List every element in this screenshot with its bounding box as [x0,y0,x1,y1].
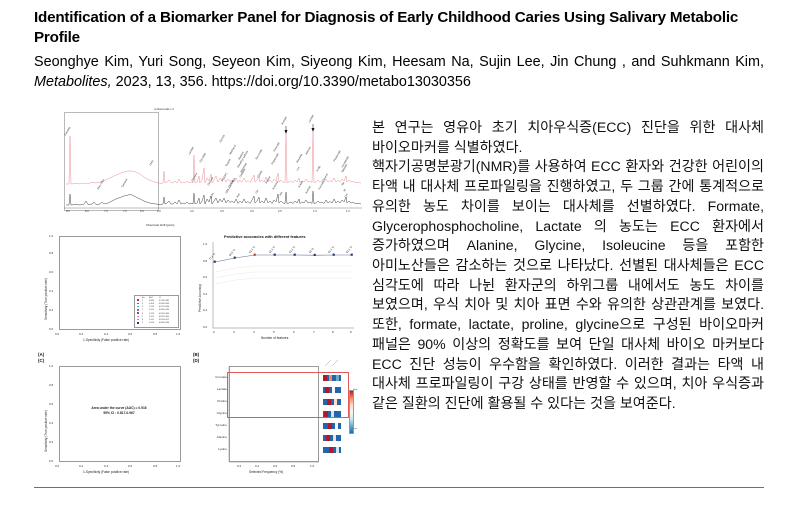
panel-d-xtick: 0.4 [255,464,259,468]
panel-b-ytick: 0.0 [203,325,207,329]
panel-c-ytick: 0.8 [49,383,53,387]
panel-a-xaxis-label: 1-Specificity (False positive rate) [83,338,129,342]
panel-a-ytick: 0.6 [49,270,53,274]
nmr-traces [36,108,366,220]
panel-d-xtick: 0.2 [237,464,241,468]
panel-b-xtick: 5 [273,330,275,334]
panel-a-ytick: 0.2 [49,308,53,312]
panel-c-xtick: 0.8 [153,464,157,468]
panel-d-colorbar-high-label: High [353,389,358,391]
journal-name: Metabolites, [34,74,112,90]
panel-d-colorbar-low-label: Low [353,428,357,430]
panel-b-ytick: 0.8 [203,259,207,263]
bottom-divider [34,487,764,488]
panel-c-auc-line2: 95% CI : 0.817-0.967 [79,411,159,416]
panel-d-metabolite-label: Tyrosine [193,423,227,427]
panel-d-metabolite-label: Lactate [193,387,227,391]
panel-d-metabolite-label: Proline [193,399,227,403]
header: Identification of a Biomarker Panel for … [34,8,764,93]
panel-c-auc-annotation: Area under the curve (AUC) = 0.916 95% C… [79,406,159,416]
panel-b-yaxis-label: Predictive Accuracy [198,284,202,312]
panel-c-ytick: 0.6 [49,402,53,406]
nmr-xtick: 6.5 [140,210,144,213]
nmr-spectrum-figure: vertical scale x 2 Formate Lactate Glyco… [36,108,366,230]
nmr-xtick: 1.0 [346,210,350,213]
panel-b-xaxis-label: Number of features [261,336,288,340]
poster-page: Identification of a Biomarker Panel for … [0,0,794,509]
page-title: Identification of a Biomarker Panel for … [34,8,764,48]
panel-d-xtick: 0.8 [291,464,295,468]
nmr-xtick: 4.0 [190,210,194,213]
summary-paragraph-1: 본 연구는 영유아 초기 치아우식증(ECC) 진단을 위한 대사체 바이오마커… [372,118,764,157]
panel-c: (C) Area under the curve (AUC [36,358,196,492]
panel-d-metabolite-label: Glycine [193,411,227,415]
panel-b-accuracy-plot [191,232,366,344]
panel-a-xtick: 0.2 [79,332,83,336]
panel-b-xtick: 4 [253,330,255,334]
panel-a-xtick: 0.8 [153,332,157,336]
summary-paragraph-2: 핵자기공명분광기(NMR)를 사용하여 ECC 환자와 건강한 어린이의 타액 … [372,157,764,413]
panel-b-xtick: 8 [332,330,334,334]
authors-list: Seonghye Kim, Yuri Song, Seyeon Kim, Siy… [34,54,764,70]
panel-b-ytick: 0.4 [203,292,207,296]
panel-d-xtick: 1.0 [310,464,314,468]
legend-ci: 0.810-0.990 [158,322,177,325]
panel-d-xtick: 0.6 [273,464,277,468]
nmr-xtick: 7.5 [104,210,108,213]
panel-b-xtick: 9 [350,330,352,334]
panel-c-ytick: 0.0 [49,459,53,463]
panel-a-legend: Var. AUC CI 20.8890.793-0.985 30.9040.81… [134,295,179,328]
panel-b-title: Predictive accuracies with different fea… [224,234,306,239]
panel-c-xtick: 0.0 [55,464,59,468]
panel-b-xtick: 7 [313,330,315,334]
nmr-xtick: 6.0 [157,210,161,213]
panel-b: (B) Predictive accuracies with different… [191,232,366,360]
panel-a-xtick: 1.0 [176,332,180,336]
nmr-xtick: 7.0 [123,210,127,213]
panel-d-tag: (D) [193,358,199,363]
panel-a-xtick: 0.6 [128,332,132,336]
panel-d-metabolite-label: Formate [193,375,227,379]
panel-c-tag: (C) [38,358,44,363]
panel-a-ytick: 0.8 [49,251,53,255]
nmr-xtick: 8.5 [66,210,70,213]
panel-d-metabolite-label: Lysine [193,447,227,451]
panel-c-xtick: 0.6 [128,464,132,468]
authors-citation: Seonghye Kim, Yuri Song, Seyeon Kim, Siy… [34,53,764,92]
panel-a-ytick: 1.0 [49,234,53,238]
panel-b-ytick: 1.0 [203,242,207,246]
panel-a-ytick: 0.0 [49,327,53,331]
panel-c-xtick: 0.4 [104,464,108,468]
nmr-xtick: 8.0 [85,210,89,213]
nmr-xtick: 3.5 [220,210,224,213]
panel-c-yaxis-label: Sensitivity (True positive rate) [44,410,48,452]
panel-a-xtick: 0.0 [55,332,59,336]
panel-a-tag: (A) [38,352,44,357]
nmr-xaxis-title: Chemical shift (ppm) [146,223,174,227]
panel-d-xaxis-label: Selected Frequency (%) [249,470,283,474]
legend-auc: 0.910 [149,322,159,325]
figure-column: vertical scale x 2 Formate Lactate Glyco… [36,108,366,492]
panel-d-biomarker-highlight [227,372,349,418]
panel-c-ytick: 1.0 [49,364,53,368]
panel-c-xtick: 0.2 [79,464,83,468]
citation-detail: 2023, 13, 356. https://doi.org/10.3390/m… [112,74,471,90]
panel-d: (D) [191,358,366,492]
legend-row: 90.9100.810-0.990 [136,322,177,325]
panel-c-ytick: 0.2 [49,440,53,444]
nmr-xtick: 2.5 [278,210,282,213]
panel-b-xtick: 2 [213,330,215,334]
panel-b-xtick: 6 [293,330,295,334]
nmr-xtick: 1.5 [313,210,317,213]
panel-b-ytick: 0.6 [203,275,207,279]
panel-a-yaxis-label: Sensitivity (True positive rate) [44,278,48,320]
panel-b-tag: (B) [193,352,199,357]
panel-a-xtick: 0.4 [104,332,108,336]
panel-b-ytick: 0.2 [203,308,207,312]
panel-c-xaxis-label: 1-Specificity (False positive rate) [83,470,129,474]
legend-var: 9 [141,322,148,325]
panel-c-xtick: 1.0 [176,464,180,468]
summary-column: 본 연구는 영유아 초기 치아우식증(ECC) 진단을 위한 대사체 바이오마커… [372,118,764,492]
panel-a-ytick: 0.4 [49,289,53,293]
panel-d-metabolite-label: Alanine [193,435,227,439]
panel-b-xtick: 3 [233,330,235,334]
panel-a: (A) 0.0 0.2 0.4 [36,232,196,360]
nmr-xtick: 3.0 [250,210,254,213]
panel-c-ytick: 0.4 [49,421,53,425]
summary-text: 본 연구는 영유아 초기 치아우식증(ECC) 진단을 위한 대사체 바이오마커… [372,118,764,414]
